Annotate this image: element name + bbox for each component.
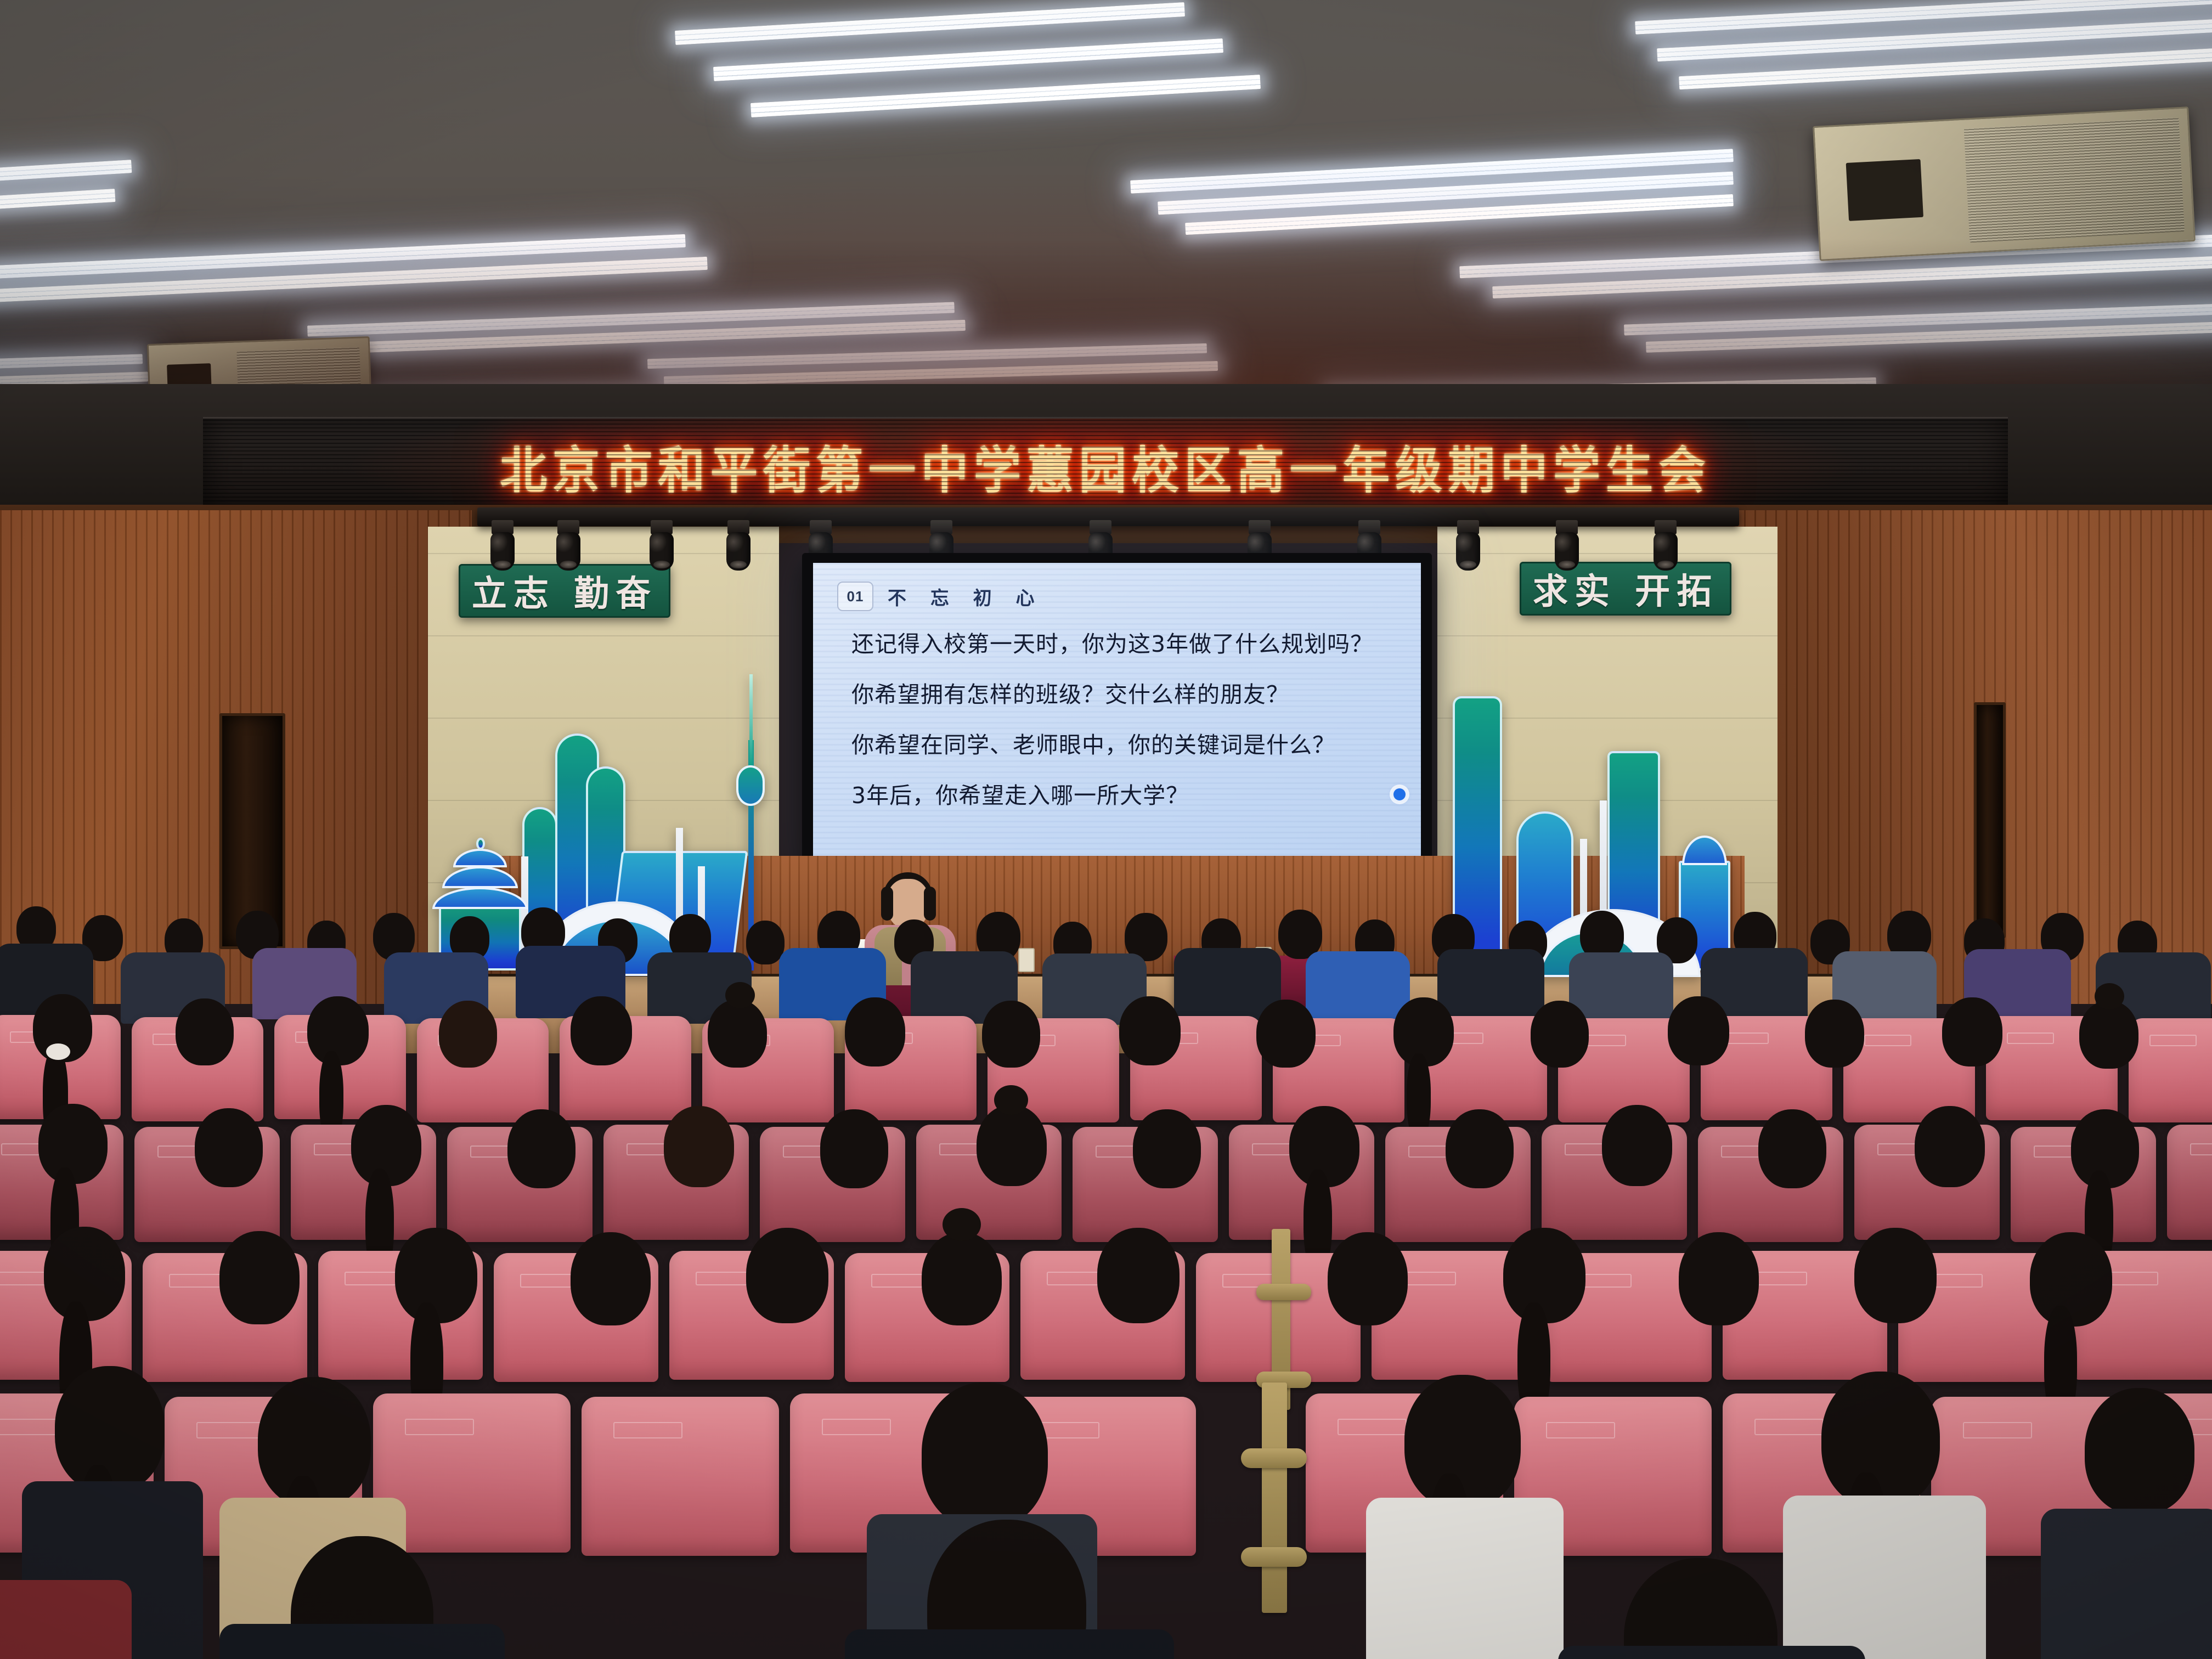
audience-head	[1119, 996, 1181, 1065]
audience-head	[176, 998, 234, 1065]
audience-head	[1679, 1232, 1759, 1325]
left-motto-text: 立志 勤奋	[472, 566, 657, 616]
right-motto-text: 求实 开拓	[1533, 563, 1718, 614]
seat-armrest	[1262, 1383, 1287, 1613]
ceiling-light-panel	[751, 75, 1261, 117]
audience-torso	[1366, 1498, 1564, 1659]
audience-head	[1097, 1228, 1180, 1323]
audience-head	[1328, 1232, 1408, 1325]
audience-torso	[1306, 951, 1410, 1023]
audience-head	[44, 1227, 125, 1321]
audience-head	[1624, 1558, 1778, 1659]
slide-line: 3年后，你希望走入哪一所大学？	[851, 783, 1397, 809]
audience-head	[1915, 1106, 1985, 1187]
projection-screen: 01 不 忘 初 心 还记得入校第一天时，你为这3年做了什么规划吗？ 你希望拥有…	[813, 563, 1421, 866]
audience-head	[1503, 1228, 1585, 1323]
audience-head	[922, 1232, 1002, 1325]
seat-armrest	[1241, 1448, 1307, 1468]
auditorium-seat[interactable]	[2129, 1018, 2212, 1122]
seat-armrest	[1256, 1284, 1311, 1300]
slide-line: 还记得入校第一天时，你为这3年做了什么规划吗？	[851, 632, 1397, 657]
ac-vent-louver	[1846, 159, 1923, 221]
slide-section-title: 不 忘 初 心	[888, 583, 1043, 610]
audience-head	[1531, 1001, 1589, 1068]
audience-head	[1256, 1000, 1316, 1068]
hair-bun	[725, 982, 755, 1008]
office-dome-icon	[1682, 836, 1727, 865]
audience-torso	[219, 1624, 505, 1659]
audience-seating-area	[0, 900, 2212, 1659]
audience-head	[507, 1109, 575, 1188]
left-motto-plaque: 立志 勤奋	[459, 564, 670, 618]
audience-head	[1602, 1105, 1672, 1186]
led-banner-text: 北京市和平街第一中学蕙园校区高一年级期中学生会	[500, 430, 1711, 503]
audience-torso	[1437, 949, 1544, 1022]
audience-torso	[1569, 952, 1673, 1024]
auditorium-seat[interactable]	[2167, 1125, 2212, 1240]
ceiling-light-panel	[0, 354, 143, 369]
auditorium-photo: 北京市和平街第一中学蕙园校区高一年级期中学生会 立志 勤奋 求实 开拓 01 不…	[0, 0, 2212, 1659]
hair-bun	[2095, 983, 2124, 1009]
audience-head	[1854, 1228, 1937, 1323]
audience-head	[1668, 996, 1729, 1065]
stage-spotlight	[724, 520, 753, 571]
audience-head	[982, 1001, 1040, 1068]
stage-spotlight	[1553, 520, 1581, 571]
seat-armrest	[1241, 1547, 1307, 1567]
ceiling-ac-vent	[1813, 106, 2196, 261]
hair-scrunchie	[46, 1043, 70, 1060]
audience-head	[2085, 1388, 2194, 1514]
right-motto-plaque: 求实 开拓	[1520, 562, 1731, 616]
audience-head	[307, 996, 369, 1065]
ceiling-light-panel	[0, 189, 115, 211]
temple-of-heaven-finial-icon	[476, 838, 485, 850]
suspended-ceiling	[0, 0, 2212, 433]
audience-head	[1446, 1109, 1514, 1188]
slide-line: 你希望拥有怎样的班级？交什么样的朋友？	[851, 682, 1397, 708]
audience-head	[439, 1001, 497, 1068]
audience-head	[571, 996, 632, 1065]
slide-section-badge: 01	[837, 582, 873, 611]
hair-bun	[994, 1085, 1028, 1115]
audience-head	[922, 1383, 1048, 1528]
slide-accent-dot	[1393, 788, 1406, 800]
audience-head	[845, 997, 905, 1066]
audience-head	[1942, 997, 2002, 1066]
tv-tower-spire-icon	[749, 674, 753, 765]
projection-screen-frame: 01 不 忘 初 心 还记得入校第一天时，你为这3年做了什么规划吗？ 你希望拥有…	[802, 553, 1432, 885]
hair-bun	[943, 1208, 981, 1241]
temple-of-heaven-roof-icon	[442, 866, 518, 888]
audience-head	[1805, 1000, 1864, 1068]
audience-head	[746, 1228, 828, 1323]
slide-header: 01 不 忘 初 心	[837, 582, 1397, 611]
audience-head	[195, 1108, 263, 1187]
slide-line: 你希望在同学、老师眼中，你的关键词是什么？	[851, 733, 1397, 758]
audience-torso	[845, 1629, 1174, 1659]
led-scrolling-banner: 北京市和平街第一中学蕙园校区高一年级期中学生会	[203, 417, 2008, 515]
audience-head	[2030, 1232, 2112, 1327]
audience-torso	[1783, 1496, 1986, 1659]
audience-head	[395, 1228, 477, 1323]
audience-head	[38, 1104, 108, 1184]
audience-head	[1133, 1109, 1201, 1188]
audience-head	[746, 921, 785, 964]
stage-spotlight	[1454, 520, 1482, 571]
audience-head	[1758, 1109, 1826, 1188]
audience-head	[219, 1231, 300, 1324]
audience-head	[664, 1106, 734, 1187]
stage-spotlight	[554, 520, 583, 571]
audience-head	[55, 1366, 165, 1492]
audience-head	[571, 1232, 651, 1325]
stage-spotlight	[488, 520, 517, 571]
ceiling-light-panel	[675, 2, 1185, 45]
slide-content: 01 不 忘 初 心 还记得入校第一天时，你为这3年做了什么规划吗？ 你希望拥有…	[813, 563, 1421, 866]
audience-head	[820, 1109, 888, 1188]
stage-spotlight	[1651, 520, 1680, 571]
temple-of-heaven-roof-icon	[453, 849, 507, 867]
stage-spotlight	[647, 520, 676, 571]
audience-torso	[2041, 1509, 2212, 1659]
ceiling-light-panel	[713, 38, 1223, 81]
audience-torso	[0, 1580, 132, 1659]
audience-torso	[1558, 1646, 1865, 1659]
audience-head	[977, 1105, 1047, 1186]
ceiling-light-panel	[0, 160, 132, 183]
audience-head	[708, 1000, 767, 1068]
tv-tower-pod-icon	[736, 765, 765, 806]
auditorium-seat[interactable]	[582, 1397, 779, 1556]
audience-head	[2079, 1001, 2138, 1069]
